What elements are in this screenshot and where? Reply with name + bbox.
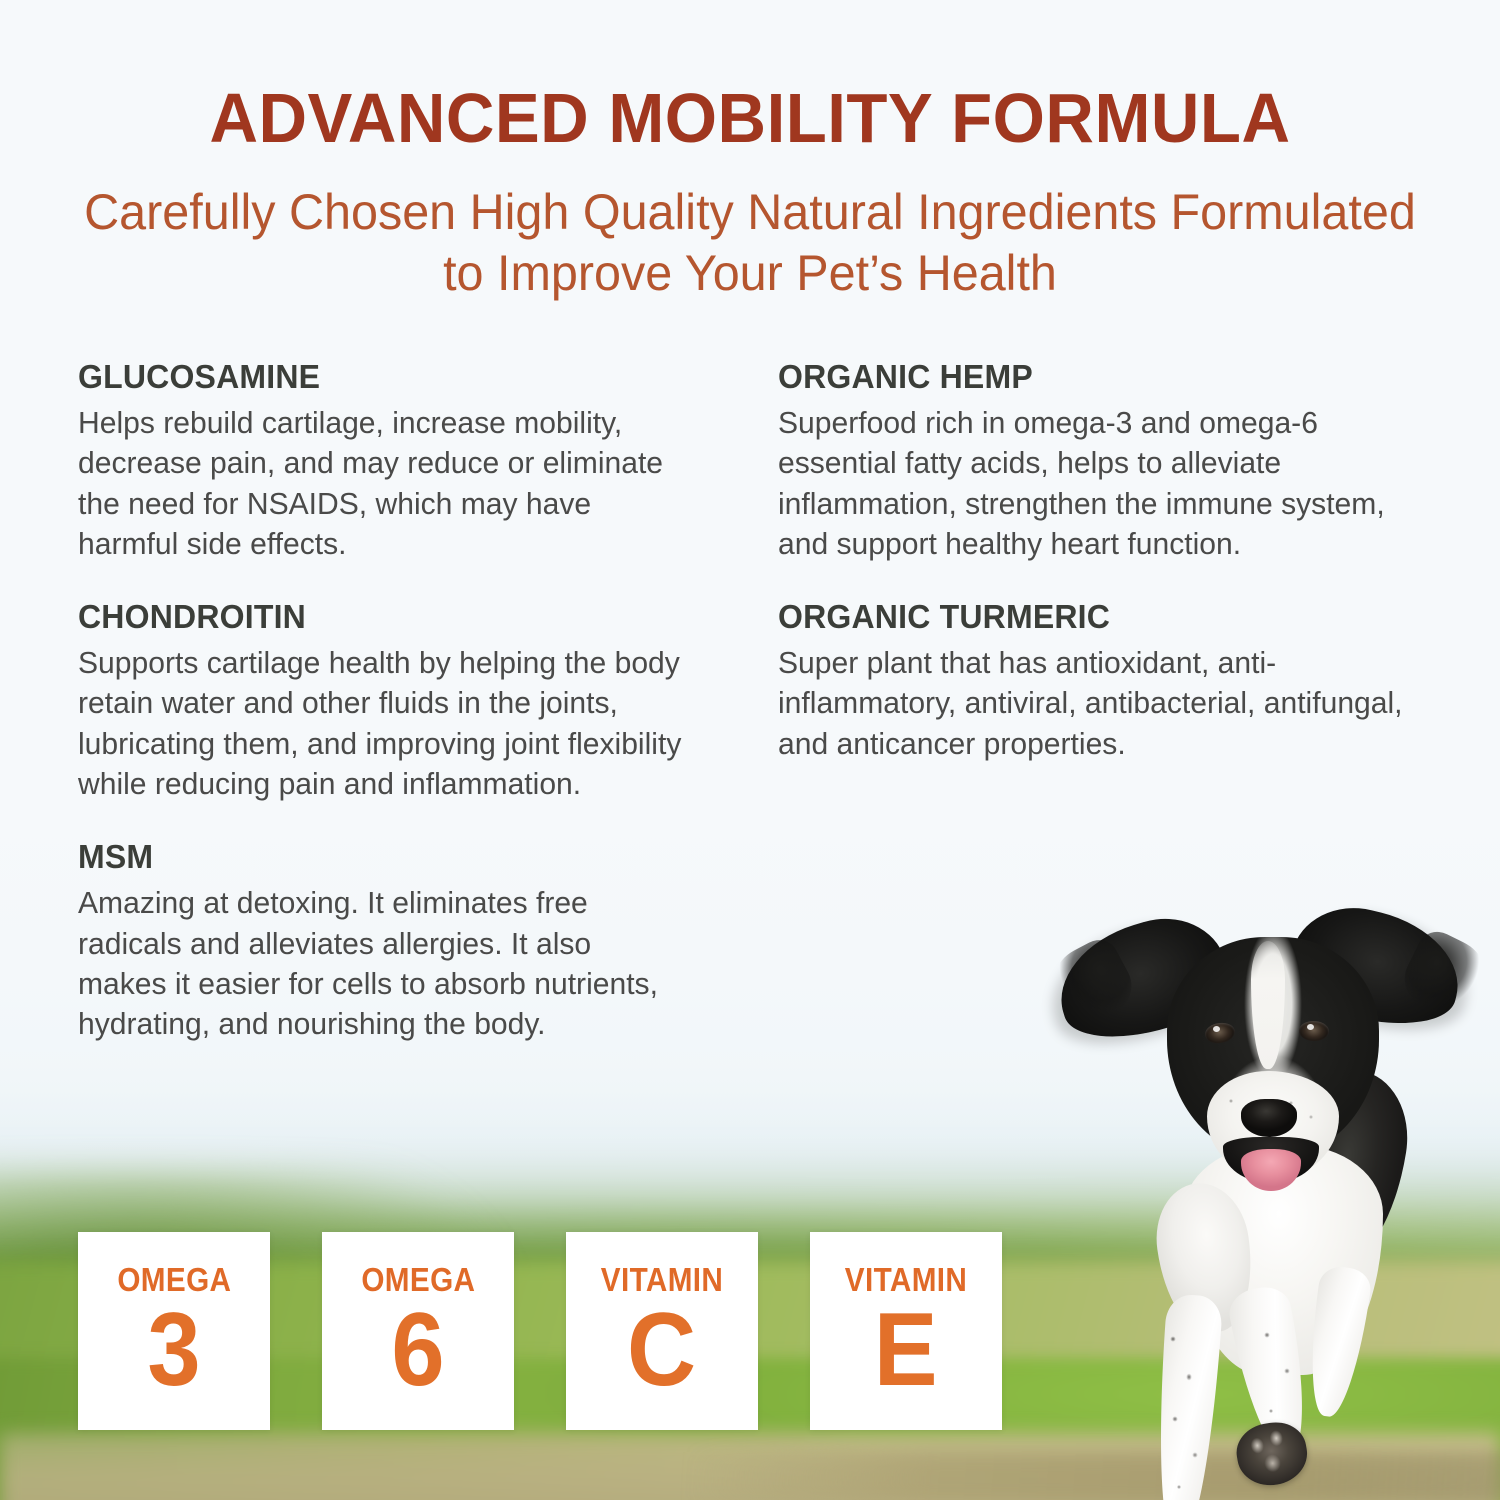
ingredient-heading: MSM bbox=[78, 838, 681, 876]
ingredient-body: Superfood rich in omega-3 and omega-6 es… bbox=[778, 403, 1407, 564]
page-title: ADVANCED MOBILITY FORMULA bbox=[30, 78, 1470, 158]
nutrient-badge-omega-3: OMEGA 3 bbox=[78, 1232, 270, 1430]
ingredient-block-organic-hemp: ORGANIC HEMP Superfood rich in omega-3 a… bbox=[778, 358, 1426, 564]
ingredient-body: Supports cartilage health by helping the… bbox=[78, 643, 681, 804]
nutrient-badge-vitamin-c: VITAMIN C bbox=[566, 1232, 758, 1430]
badge-value: 6 bbox=[391, 1302, 444, 1400]
nutrient-badge-omega-6: OMEGA 6 bbox=[322, 1232, 514, 1430]
page-subtitle: Carefully Chosen High Quality Natural In… bbox=[81, 182, 1420, 304]
poster-content: ADVANCED MOBILITY FORMULA Carefully Chos… bbox=[0, 0, 1500, 1500]
ingredient-block-msm: MSM Amazing at detoxing. It eliminates f… bbox=[78, 838, 700, 1044]
ingredient-heading: ORGANIC HEMP bbox=[778, 358, 1407, 396]
nutrient-badge-vitamin-e: VITAMIN E bbox=[810, 1232, 1002, 1430]
ingredient-column-right: ORGANIC HEMP Superfood rich in omega-3 a… bbox=[778, 358, 1426, 1045]
badge-value: E bbox=[874, 1302, 938, 1400]
ingredient-heading: CHONDROITIN bbox=[78, 598, 681, 636]
ingredient-columns: GLUCOSAMINE Helps rebuild cartilage, inc… bbox=[78, 358, 1428, 1045]
product-info-poster: ADVANCED MOBILITY FORMULA Carefully Chos… bbox=[0, 0, 1500, 1500]
badge-value: C bbox=[627, 1302, 696, 1400]
ingredient-heading: GLUCOSAMINE bbox=[78, 358, 681, 396]
badge-value: 3 bbox=[147, 1302, 200, 1400]
ingredient-heading: ORGANIC TURMERIC bbox=[778, 598, 1407, 636]
nutrient-badge-row: OMEGA 3 OMEGA 6 VITAMIN C VITAMIN E bbox=[78, 1232, 1002, 1430]
ingredient-block-organic-turmeric: ORGANIC TURMERIC Super plant that has an… bbox=[778, 598, 1426, 764]
ingredient-block-glucosamine: GLUCOSAMINE Helps rebuild cartilage, inc… bbox=[78, 358, 700, 564]
ingredient-body: Super plant that has antioxidant, anti-i… bbox=[778, 643, 1407, 764]
ingredient-column-left: GLUCOSAMINE Helps rebuild cartilage, inc… bbox=[78, 358, 700, 1045]
ingredient-block-chondroitin: CHONDROITIN Supports cartilage health by… bbox=[78, 598, 700, 804]
ingredient-body: Amazing at detoxing. It eliminates free … bbox=[78, 883, 681, 1044]
ingredient-body: Helps rebuild cartilage, increase mobili… bbox=[78, 403, 681, 564]
